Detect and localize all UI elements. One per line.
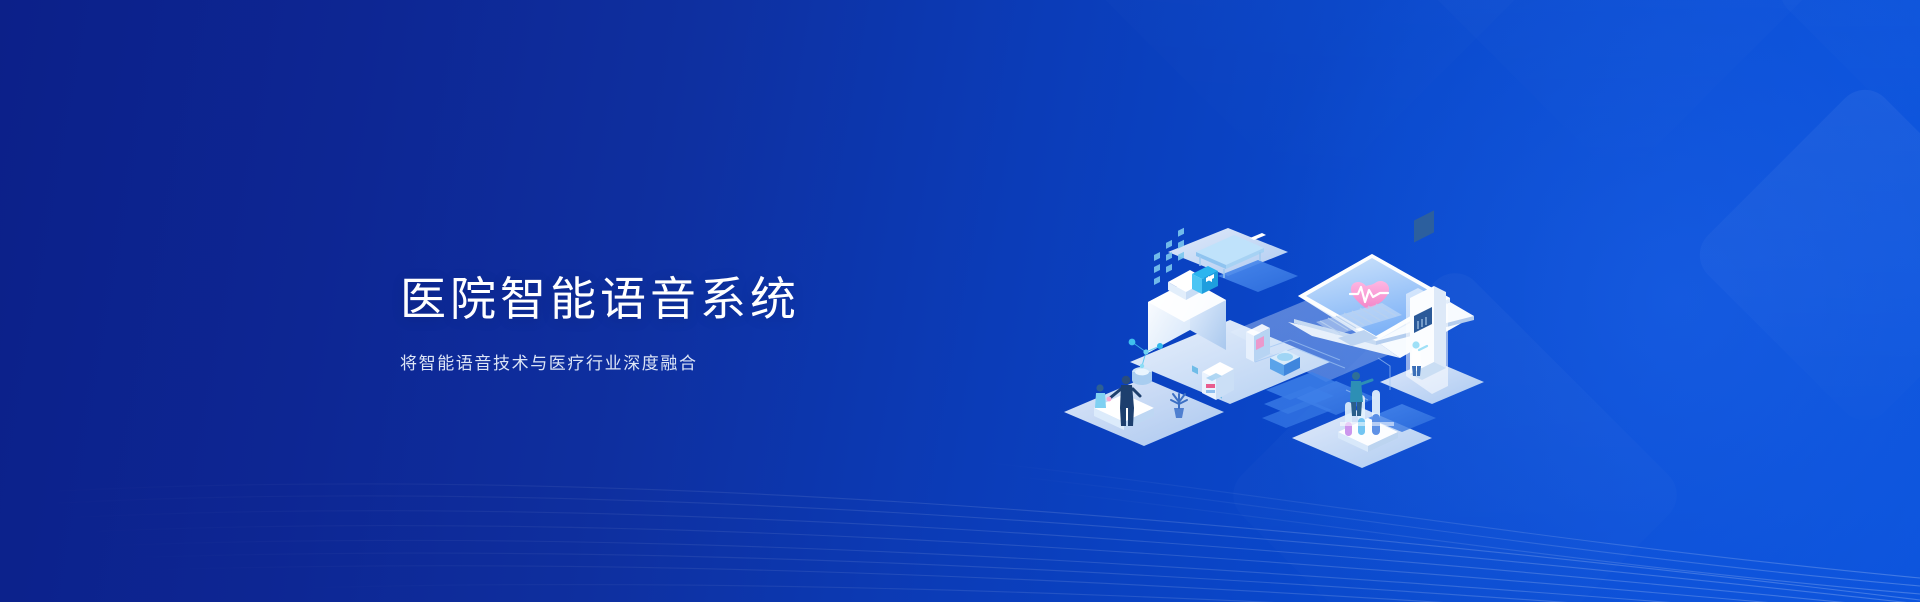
isometric-medical-scene-icon (1050, 190, 1490, 520)
medical-illustration (1050, 190, 1490, 520)
diamond-corner-right-icon (1769, 0, 1920, 131)
device-cylinder-icon (1132, 367, 1152, 385)
hero-banner: 医院智能语音系统 将智能语音技术与医疗行业深度融合 (0, 0, 1920, 602)
hero-copy: 医院智能语音系统 将智能语音技术与医疗行业深度融合 (400, 275, 800, 374)
wave-lines-decoration (0, 342, 1920, 602)
doctor-figure-center-icon (1350, 372, 1372, 416)
patient-figure-icon (1095, 384, 1106, 408)
page-subtitle: 将智能语音技术与医疗行业深度融合 (400, 349, 800, 374)
diamond-top-right-icon (1408, 0, 1832, 182)
diamond-top-far-icon (1055, 0, 1564, 205)
xray-display-panel-icon (1406, 210, 1448, 394)
page-title: 医院智能语音系统 (400, 275, 800, 323)
